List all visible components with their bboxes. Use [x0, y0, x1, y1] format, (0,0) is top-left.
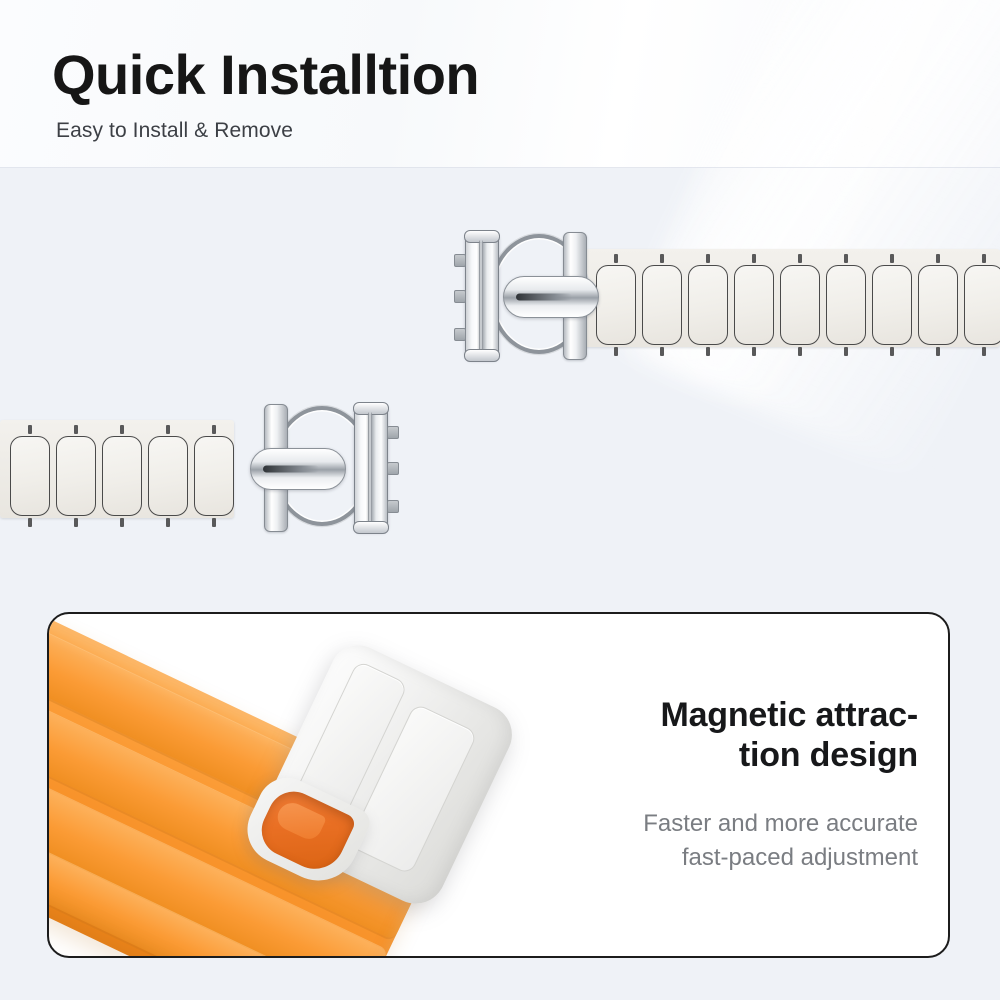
clasp-pin-slot — [263, 466, 319, 473]
band-segment — [780, 265, 820, 345]
clasp-plate-ridge — [479, 240, 483, 352]
lower-band-strip — [0, 420, 234, 518]
feature-body-line-2: fast-paced adjustment — [682, 844, 918, 871]
band-segment — [872, 265, 912, 345]
clasp-release-pin — [503, 276, 599, 318]
upper-band-strip — [584, 249, 1000, 347]
band-segment — [688, 265, 728, 345]
clasp-side-tab — [454, 254, 466, 267]
clasp-release-pin — [250, 448, 346, 490]
clasp-plate-ridge — [368, 412, 372, 524]
feature-body-line-1: Faster and more accurate — [643, 810, 918, 837]
feature-card: Magnetic attrac- tion design Faster and … — [47, 612, 950, 958]
band-segment — [56, 436, 96, 516]
band-segment — [148, 436, 188, 516]
band-diagram-area — [0, 0, 1000, 600]
feature-card-text: Magnetic attrac- tion design Faster and … — [518, 614, 918, 956]
band-segment — [102, 436, 142, 516]
band-segment — [642, 265, 682, 345]
feature-body: Faster and more accurate fast-paced adju… — [643, 807, 918, 875]
clasp-side-tab — [454, 328, 466, 341]
clasp-plate-cap-bottom — [353, 521, 389, 534]
clasp-end-plate — [465, 232, 499, 360]
clasp-side-tab — [454, 290, 466, 303]
band-segment — [918, 265, 958, 345]
feature-heading-line-2: tion design — [739, 736, 918, 774]
upper-band-clasp — [455, 232, 625, 364]
clasp-plate-cap-bottom — [464, 349, 500, 362]
band-segment — [826, 265, 866, 345]
clasp-pin-slot — [516, 294, 572, 301]
clasp-side-tab — [387, 462, 399, 475]
product-marketing-page: Quick Installtion Easy to Install & Remo… — [0, 0, 1000, 1000]
band-segment — [734, 265, 774, 345]
feature-heading-line-1: Magnetic attrac- — [660, 696, 918, 734]
clasp-side-tab — [387, 500, 399, 513]
clasp-side-tab — [387, 426, 399, 439]
feature-heading: Magnetic attrac- tion design — [660, 695, 918, 775]
band-segment — [10, 436, 50, 516]
lower-band-clasp — [228, 404, 398, 536]
clasp-end-plate — [354, 404, 388, 532]
band-segment — [964, 265, 1000, 345]
